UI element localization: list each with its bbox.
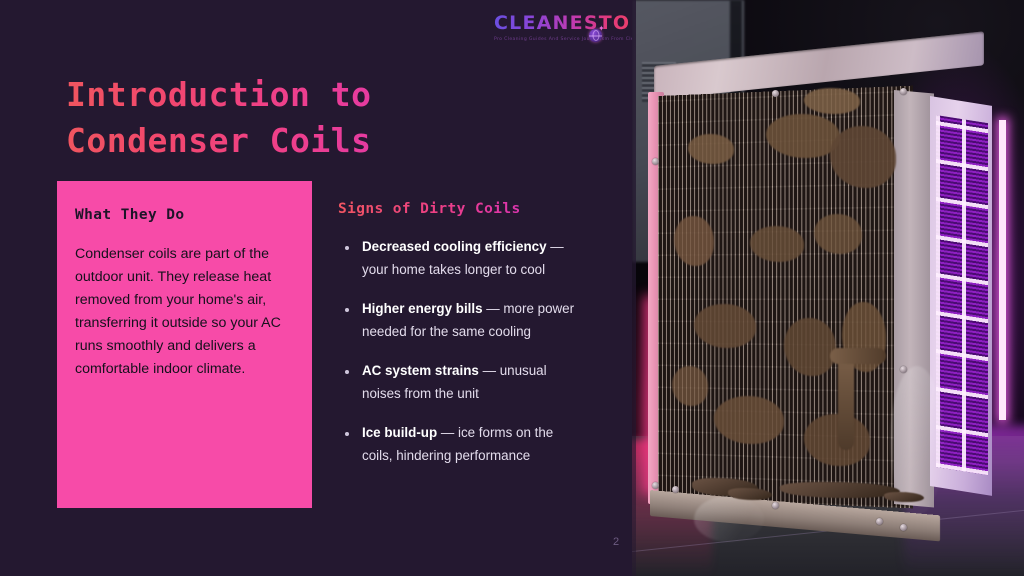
photo-floor-debris xyxy=(884,492,924,502)
photo-grime xyxy=(804,88,860,114)
photo-screw xyxy=(652,482,659,489)
photo-screw xyxy=(772,502,779,509)
photo-grime xyxy=(714,396,784,444)
photo-grime xyxy=(814,214,862,254)
photo-screw xyxy=(672,486,679,493)
list-item: AC system strains — unusual noises from … xyxy=(338,360,578,405)
photo-grime xyxy=(784,318,836,376)
photo-grime xyxy=(804,414,870,466)
photo-screw xyxy=(900,524,907,531)
brand-tagline: Pro Cleaning Guides And Service Journali… xyxy=(494,36,626,44)
card-body: Condenser coils are part of the outdoor … xyxy=(75,243,290,381)
photo-grime-root xyxy=(830,348,886,364)
photo-neon-strip-right xyxy=(999,120,1006,420)
list-item-lead: Higher energy bills xyxy=(362,301,483,316)
photo-unit-side-grille xyxy=(936,115,988,475)
sparkle-icon: ✦ xyxy=(598,25,605,33)
list-item-lead: AC system strains xyxy=(362,363,479,378)
page-number: 2 xyxy=(605,536,627,548)
list-item-lead: Decreased cooling efficiency xyxy=(362,239,547,254)
brand-name: CLEANESTOR xyxy=(494,12,646,34)
photo-cobweb xyxy=(694,496,764,542)
list-item: Ice build-up — ice forms on the coils, h… xyxy=(338,422,578,467)
page-title: Introduction to Condenser Coils xyxy=(66,72,566,164)
photo-grime xyxy=(766,114,840,158)
photo-grime xyxy=(672,366,708,406)
signs-list: Decreased cooling efficiency — your home… xyxy=(338,236,578,467)
photo-screw xyxy=(900,366,907,373)
photo-condenser-unit xyxy=(654,66,984,506)
photo-grime xyxy=(694,304,756,348)
signs-column: Signs of Dirty Coils Decreased cooling e… xyxy=(338,198,578,484)
photo-screw xyxy=(652,158,659,165)
signs-heading: Signs of Dirty Coils xyxy=(338,198,578,220)
photo-left-edge-shade xyxy=(632,0,636,576)
brand-logo: CLEANESTOR ✦ Pro Cleaning Guides And Ser… xyxy=(494,12,626,44)
card-heading: What They Do xyxy=(75,205,290,225)
photo-screw xyxy=(772,90,779,97)
dirty-condenser-coil-unit-photo xyxy=(632,0,1024,576)
photo-grime xyxy=(830,126,896,188)
photo-grime xyxy=(688,134,734,164)
list-item: Higher energy bills — more power needed … xyxy=(338,298,578,343)
photo-screw xyxy=(900,88,907,95)
list-item-lead: Ice build-up xyxy=(362,425,437,440)
photo-screw xyxy=(876,518,883,525)
photo-grime xyxy=(674,216,714,266)
photo-grime-root xyxy=(838,354,854,450)
what-they-do-card: What They Do Condenser coils are part of… xyxy=(57,181,312,508)
list-item: Decreased cooling efficiency — your home… xyxy=(338,236,578,281)
slide: CLEANESTOR ✦ Pro Cleaning Guides And Ser… xyxy=(0,0,1024,576)
photo-floor-debris xyxy=(728,488,772,500)
photo-grime xyxy=(750,226,804,262)
